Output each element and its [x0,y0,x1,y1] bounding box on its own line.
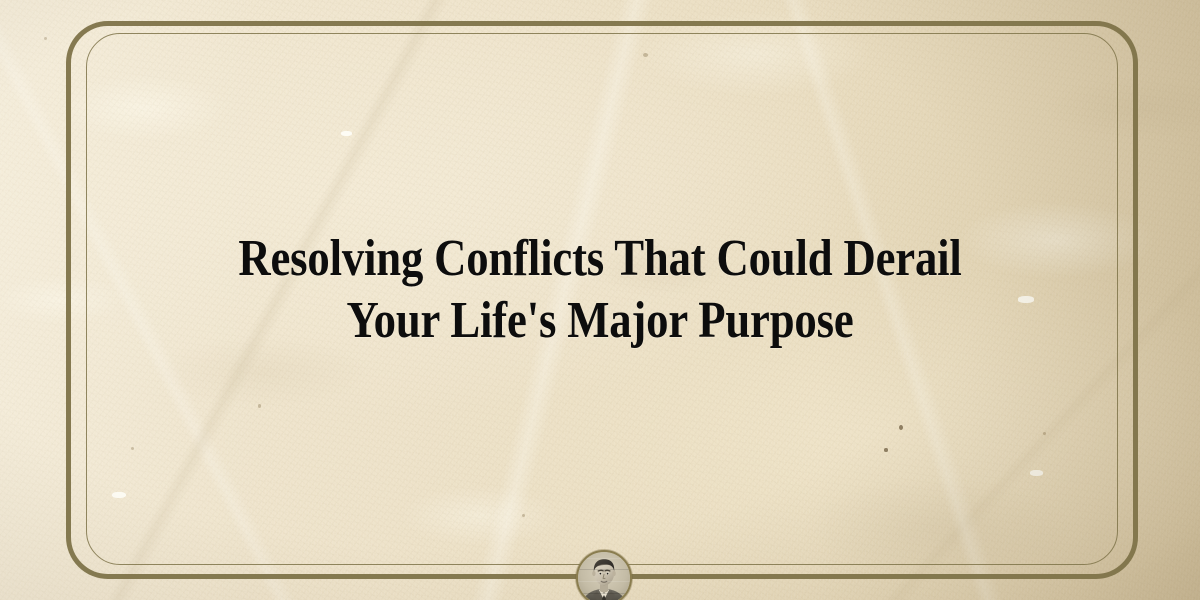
portrait-image [578,552,630,600]
portrait-medallion [576,550,632,600]
slide-canvas: Resolving Conflicts That Could Derail Yo… [0,0,1200,600]
title-block: Resolving Conflicts That Could Derail Yo… [110,228,1090,352]
slide-title: Resolving Conflicts That Could Derail Yo… [179,228,1022,352]
